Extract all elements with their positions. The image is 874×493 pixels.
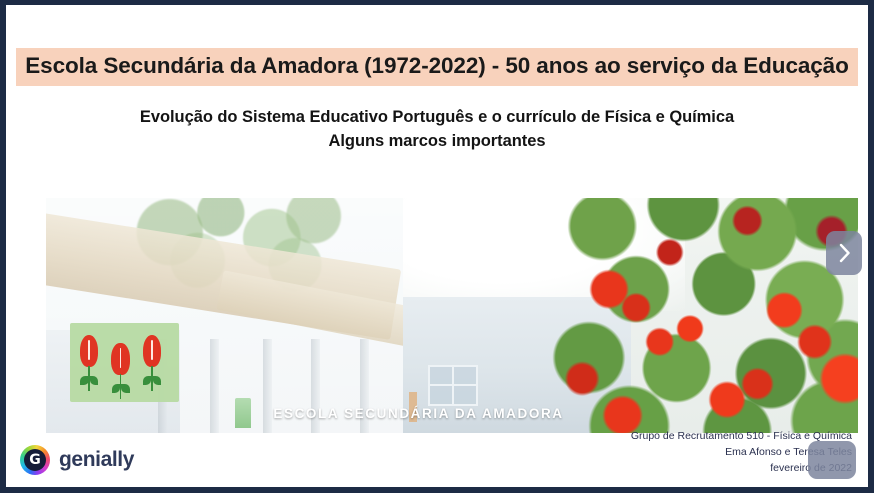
subtitle-line-2: Alguns marcos importantes [6, 130, 868, 154]
genially-logo-icon: G [20, 445, 50, 475]
genially-brand-name: genially [59, 448, 134, 472]
tulip-sign [70, 323, 178, 403]
genially-logo-glyph: G [24, 449, 46, 471]
geranium-leaves [535, 198, 858, 433]
subtitle-line-1: Evolução do Sistema Educativo Português … [140, 108, 734, 126]
tulip-icon [143, 335, 161, 367]
photo-right-scene [403, 198, 858, 433]
genially-brand[interactable]: G genially [20, 445, 134, 475]
photo-caption: ESCOLA SECUNDÁRIA DA AMADORA [273, 406, 841, 421]
pillar [210, 339, 219, 433]
photo-left-scene [46, 198, 420, 433]
pillar [263, 339, 272, 433]
window-grid [428, 365, 478, 406]
next-slide-button[interactable] [826, 231, 862, 275]
genially-presentation-viewer: Escola Secundária da Amadora (1972-2022)… [0, 0, 874, 493]
slide-canvas: Escola Secundária da Amadora (1972-2022)… [6, 5, 868, 487]
tulip-icon [111, 343, 129, 375]
floating-action-chip[interactable] [808, 441, 856, 479]
hero-photo-inner: ESCOLA SECUNDÁRIA DA AMADORA [46, 198, 858, 433]
page-subtitle: Evolução do Sistema Educativo Português … [6, 106, 868, 154]
page-title-wrapper: Escola Secundária da Amadora (1972-2022)… [6, 48, 868, 86]
recycling-bin [235, 398, 252, 429]
tulip-icon [80, 335, 98, 367]
geranium-blooms [535, 198, 858, 433]
hero-photo: ESCOLA SECUNDÁRIA DA AMADORA [46, 198, 858, 433]
chevron-right-icon [838, 243, 851, 263]
page-title: Escola Secundária da Amadora (1972-2022)… [16, 48, 858, 86]
